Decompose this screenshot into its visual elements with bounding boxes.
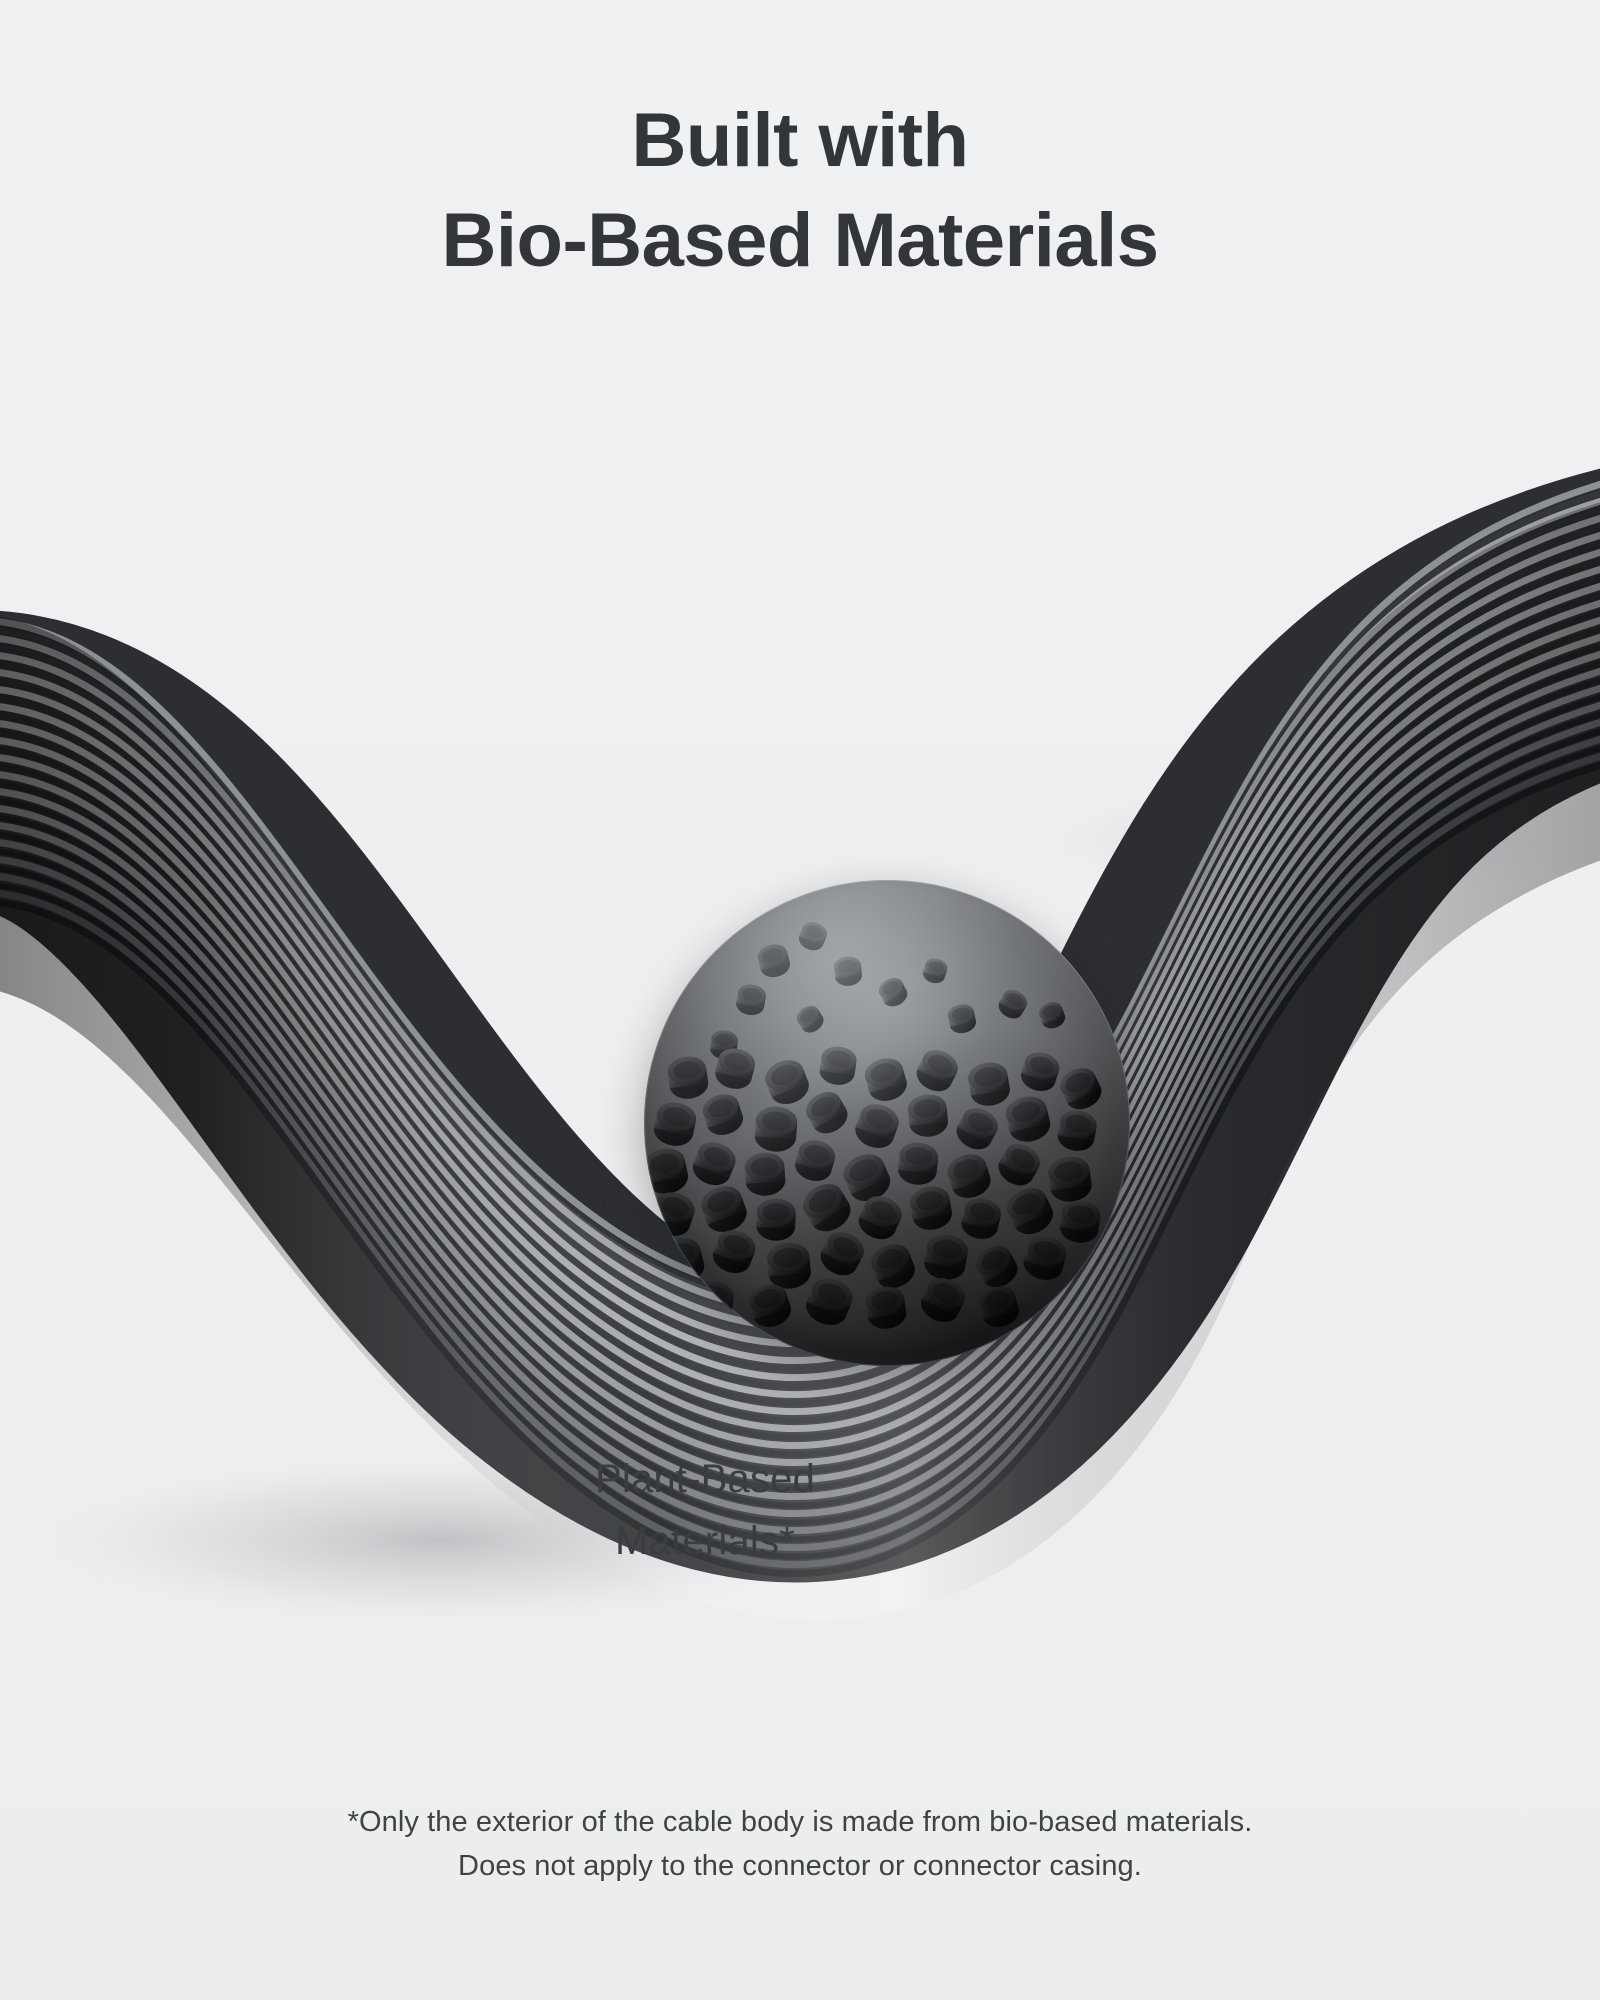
headline-line-2: Bio-Based Materials [0,196,1600,286]
caption-line-2: Materials* [500,1510,910,1572]
plant-based-pellets-inset [644,880,1130,1366]
inset-caption: Plant-Based Materials* [500,1448,910,1572]
page-title: Built with Bio-Based Materials [0,96,1600,285]
footnote-line-1: *Only the exterior of the cable body is … [0,1800,1600,1844]
footnote-line-2: Does not apply to the connector or conne… [0,1844,1600,1888]
caption-line-1: Plant-Based [500,1448,910,1510]
marketing-banner: Built with Bio-Based Materials [0,0,1600,2000]
footnote: *Only the exterior of the cable body is … [0,1800,1600,1888]
headline-line-1: Built with [0,96,1600,186]
